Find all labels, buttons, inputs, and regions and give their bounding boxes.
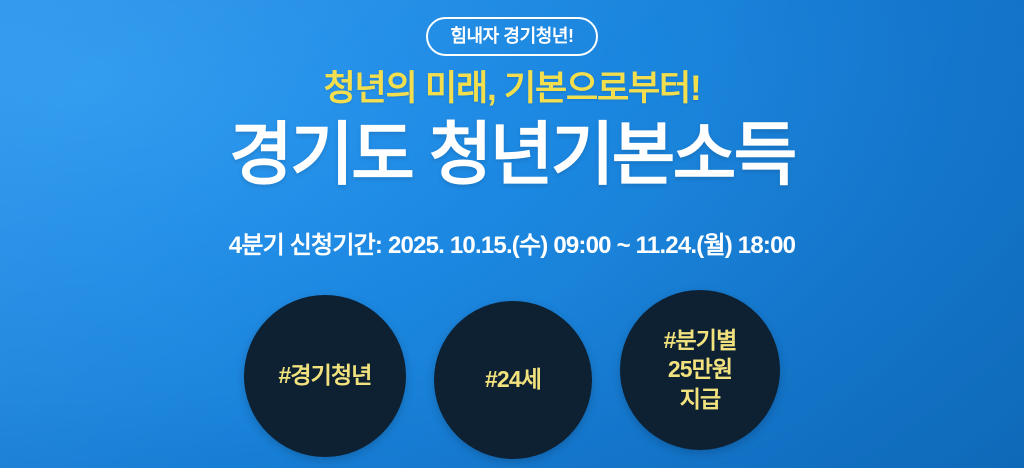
banner-subtitle: 청년의 미래, 기본으로부터! [0,70,1024,109]
hashtag-circle-age: #24세 [434,301,592,459]
hashtag-circle-line: #분기별 [664,326,737,355]
hashtag-circle-line: #경기청년 [279,361,372,390]
hashtag-circle-group: #경기청년 #24세 #분기별 25만원 지급 [0,290,1024,468]
hashtag-circle-line: 지급 [680,385,721,414]
application-period-text: 4분기 신청기간: 2025. 10.15.(수) 09:00 ~ 11.24.… [0,232,1024,261]
badge-row: 힘내자 경기청년! [0,17,1024,56]
hashtag-circle-line: 25만원 [668,355,732,384]
banner-title: 경기도 청년기본소득 [0,116,1024,193]
slogan-badge: 힘내자 경기청년! [426,17,597,56]
hashtag-circle-line: #24세 [485,365,541,394]
hashtag-circle-payment: #분기별 25만원 지급 [620,290,780,450]
banner-content: 힘내자 경기청년! 청년의 미래, 기본으로부터! 경기도 청년기본소득 4분기… [0,0,1024,468]
promo-banner: 힘내자 경기청년! 청년의 미래, 기본으로부터! 경기도 청년기본소득 4분기… [0,0,1024,468]
hashtag-circle-target: #경기청년 [244,295,406,457]
